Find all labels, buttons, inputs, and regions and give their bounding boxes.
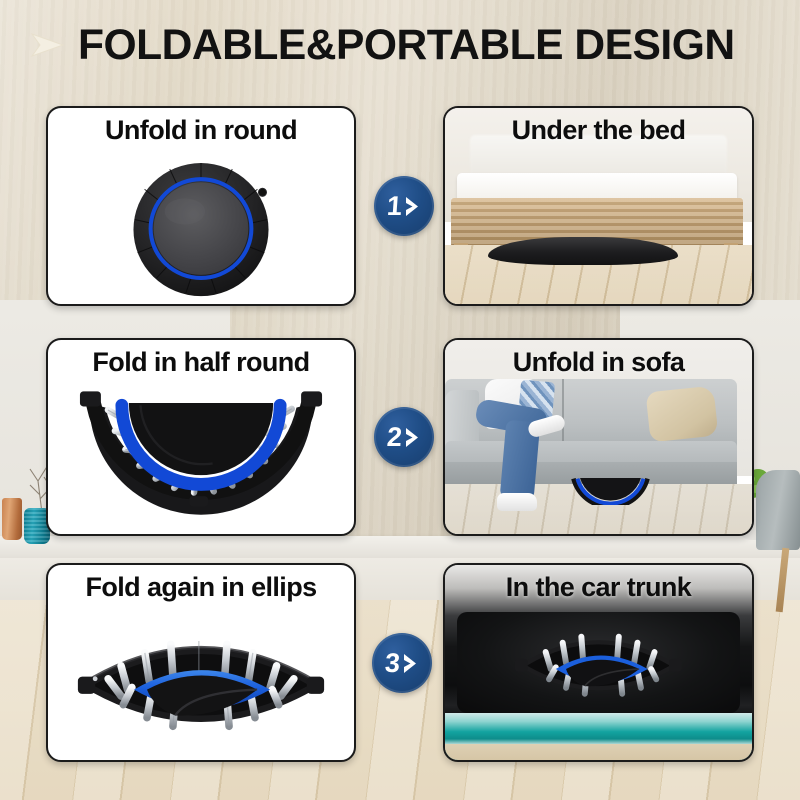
step-number-1: 1: [387, 193, 404, 220]
step-badge-3: 3: [372, 633, 432, 693]
stored-trampoline-under-sofa: [546, 476, 675, 505]
stored-trampoline-under-bed: [488, 237, 678, 264]
card-unfold-in-round[interactable]: Unfold in round: [46, 106, 356, 306]
card-label-in-the-car-trunk: In the car trunk: [445, 573, 752, 601]
garage-floor: [445, 744, 752, 760]
person-shoe-floor: [497, 493, 537, 510]
stored-trampoline-in-trunk: [494, 618, 703, 712]
card-fold-in-half-round[interactable]: Fold in half round: [46, 338, 356, 536]
grey-chair-decor: [756, 470, 800, 550]
sofa-pillow: [645, 385, 717, 442]
card-label-fold-in-half-round: Fold in half round: [48, 348, 354, 376]
step-badge-2: 2: [374, 407, 434, 467]
card-label-unfold-in-sofa: Unfold in sofa: [445, 348, 752, 376]
chevron-right-icon: [402, 653, 419, 674]
step-number-3: 3: [385, 650, 402, 677]
chevron-right-icon: [404, 196, 421, 217]
card-unfold-in-sofa[interactable]: Unfold in sofa: [443, 338, 754, 536]
card-label-under-the-bed: Under the bed: [445, 116, 752, 144]
card-label-unfold-in-round: Unfold in round: [48, 116, 354, 144]
page-title: FOLDABLE&PORTABLE DESIGN: [78, 24, 735, 67]
card-in-the-car-trunk[interactable]: In the car trunk: [443, 563, 754, 762]
header: FOLDABLE&PORTABLE DESIGN: [0, 14, 800, 76]
copper-vase-decor: [2, 498, 22, 540]
step-badge-1: 1: [374, 176, 434, 236]
play-arrow-icon: [30, 30, 64, 60]
card-under-the-bed[interactable]: Under the bed: [443, 106, 754, 306]
infographic-scene: FOLDABLE&PORTABLE DESIGN Unfold in round: [0, 0, 800, 800]
chevron-right-icon: [404, 427, 421, 448]
card-fold-again-in-ellips[interactable]: Fold again in ellips: [46, 563, 356, 762]
step-number-2: 2: [387, 424, 404, 451]
card-label-fold-again-in-ellips: Fold again in ellips: [48, 573, 354, 601]
